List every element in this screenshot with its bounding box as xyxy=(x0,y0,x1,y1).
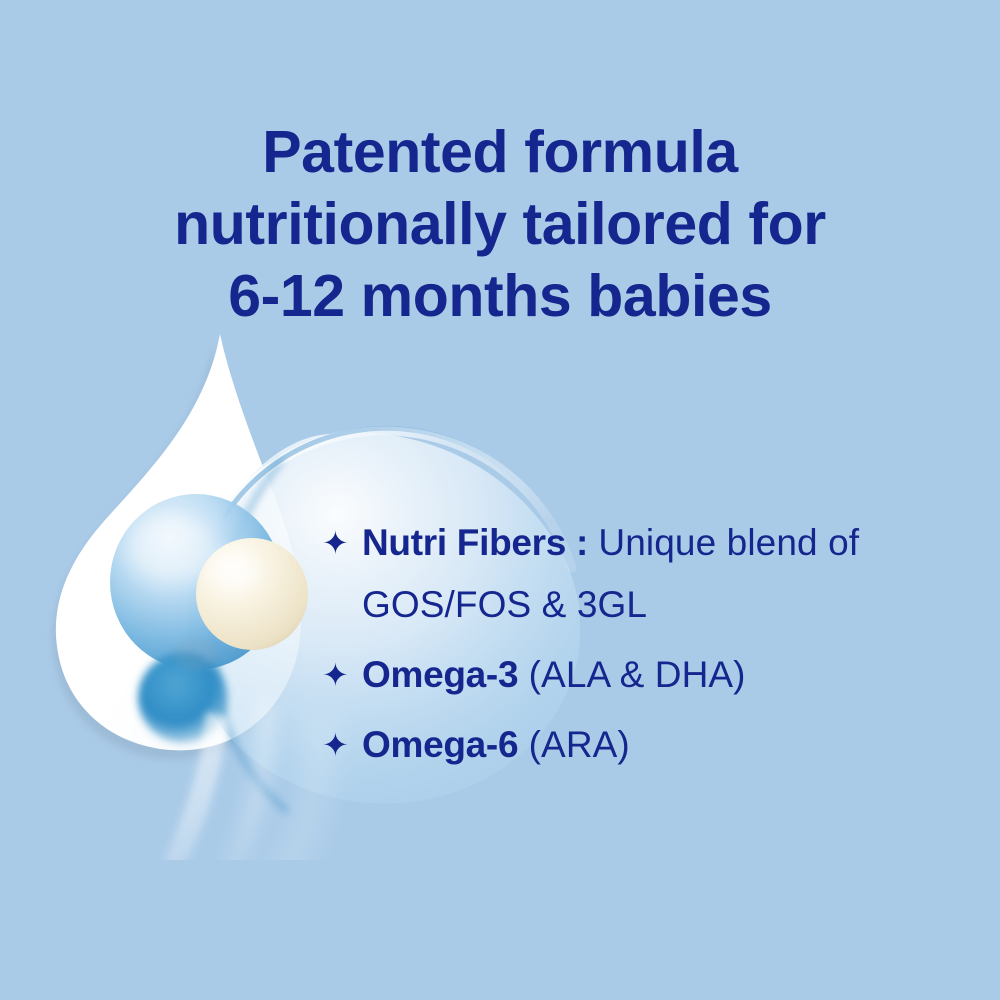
list-item-value: Unique blend of xyxy=(588,522,859,563)
four-point-star-icon: ✦ xyxy=(322,714,362,776)
list-item-label: Omega-3 xyxy=(362,654,518,695)
list-item-text: Omega-3 (ALA & DHA) xyxy=(362,644,982,706)
four-point-star-icon: ✦ xyxy=(322,512,362,574)
four-point-star-icon: ✦ xyxy=(322,644,362,706)
headline-line-2: nutritionally tailored for xyxy=(0,188,1000,260)
headline-line-3: 6-12 months babies xyxy=(0,260,1000,332)
list-item: ✦ Omega-3 (ALA & DHA) xyxy=(322,644,982,706)
list-item-label: Omega-6 xyxy=(362,724,518,765)
promo-canvas: Patented formula nutritionally tailored … xyxy=(0,0,1000,1000)
list-item-text: Nutri Fibers : Unique blend of GOS/FOS &… xyxy=(362,512,982,636)
list-item-label: Nutri Fibers : xyxy=(362,522,588,563)
headline-line-1: Patented formula xyxy=(0,116,1000,188)
page-title: Patented formula nutritionally tailored … xyxy=(0,116,1000,332)
list-item-text: Omega-6 (ARA) xyxy=(362,714,982,776)
list-item-value: (ALA & DHA) xyxy=(518,654,745,695)
list-item-value-wrap: GOS/FOS & 3GL xyxy=(362,574,982,636)
list-item: ✦ Omega-6 (ARA) xyxy=(322,714,982,776)
nutrient-benefits-list: ✦ Nutri Fibers : Unique blend of GOS/FOS… xyxy=(322,512,982,776)
list-item-value: (ARA) xyxy=(518,724,630,765)
list-item: ✦ Nutri Fibers : Unique blend of GOS/FOS… xyxy=(322,512,982,636)
